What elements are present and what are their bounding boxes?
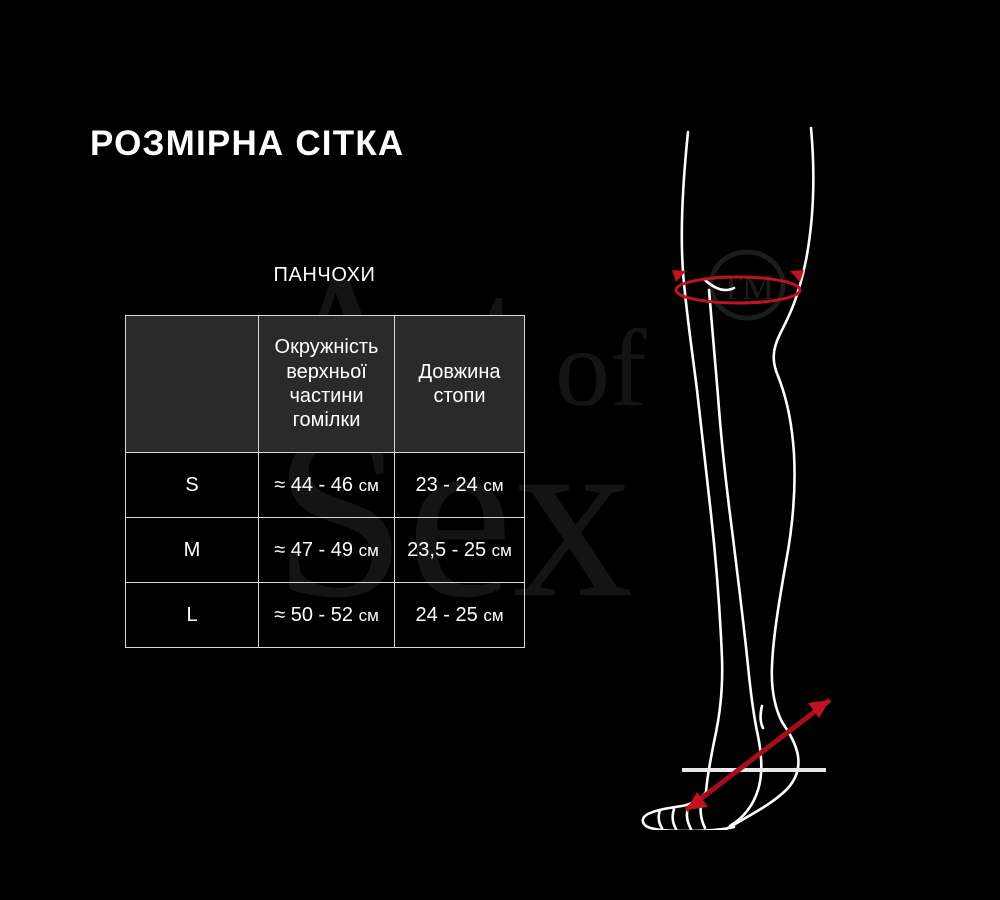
cell-calf-unit: см	[359, 606, 379, 625]
cell-calf: ≈ 47 - 49 см	[259, 518, 395, 583]
cell-calf: ≈ 50 - 52 см	[259, 583, 395, 648]
front-leg-shin-contour	[709, 290, 761, 826]
table-body: S ≈ 44 - 46 см 23 - 24 см M ≈ 47 - 49 см…	[126, 453, 525, 648]
header-line: Окружність	[263, 335, 390, 359]
cell-foot: 24 - 25 см	[395, 583, 525, 648]
cell-calf: ≈ 44 - 46 см	[259, 453, 395, 518]
cell-calf-unit: см	[359, 476, 379, 495]
table-header-row: Окружність верхньої частини гомілки Довж…	[126, 316, 525, 453]
cell-foot-unit: см	[492, 541, 512, 560]
cell-calf-value: ≈ 50 - 52	[274, 604, 358, 626]
column-header-size	[126, 316, 259, 453]
trademark-badge-icon: TM	[711, 252, 783, 318]
table-row: S ≈ 44 - 46 см 23 - 24 см	[126, 453, 525, 518]
column-header-foot-length: Довжина стопи	[395, 316, 525, 453]
cell-foot-unit: см	[483, 606, 503, 625]
rear-leg-outline	[682, 132, 722, 792]
header-line: гомілки	[263, 408, 390, 432]
column-header-calf-circumference: Окружність верхньої частини гомілки	[259, 316, 395, 453]
cell-calf-value: ≈ 44 - 46	[274, 474, 358, 496]
cell-foot: 23 - 24 см	[395, 453, 525, 518]
cell-calf-unit: см	[359, 541, 379, 560]
table-caption: ПАНЧОХИ	[125, 264, 524, 287]
cell-foot: 23,5 - 25 см	[395, 518, 525, 583]
cell-size: L	[126, 583, 259, 648]
cell-foot-value: 24 - 25	[415, 604, 483, 626]
header-line: частини	[263, 384, 390, 408]
ankle-bone-line	[761, 706, 763, 728]
table-row: M ≈ 47 - 49 см 23,5 - 25 см	[126, 518, 525, 583]
front-leg-back-contour	[772, 128, 813, 722]
header-line: верхньої	[263, 360, 390, 384]
header-line: Довжина	[399, 360, 520, 384]
cell-size: S	[126, 453, 259, 518]
page-title: РОЗМІРНА СІТКА	[90, 124, 404, 164]
table-row: L ≈ 50 - 52 см 24 - 25 см	[126, 583, 525, 648]
rear-foot-toe-line	[659, 810, 662, 828]
size-chart-table: Окружність верхньої частини гомілки Довж…	[125, 315, 525, 648]
cell-calf-value: ≈ 47 - 49	[274, 539, 358, 561]
cell-size: M	[126, 518, 259, 583]
rear-foot-toe-line	[673, 809, 676, 829]
header-line: стопи	[399, 384, 520, 408]
cell-foot-unit: см	[483, 476, 503, 495]
cell-foot-value: 23,5 - 25	[407, 539, 492, 561]
leg-measurement-illustration: TM	[600, 110, 920, 830]
cell-foot-value: 23 - 24	[415, 474, 483, 496]
table-head: Окружність верхньої частини гомілки Довж…	[126, 316, 525, 453]
